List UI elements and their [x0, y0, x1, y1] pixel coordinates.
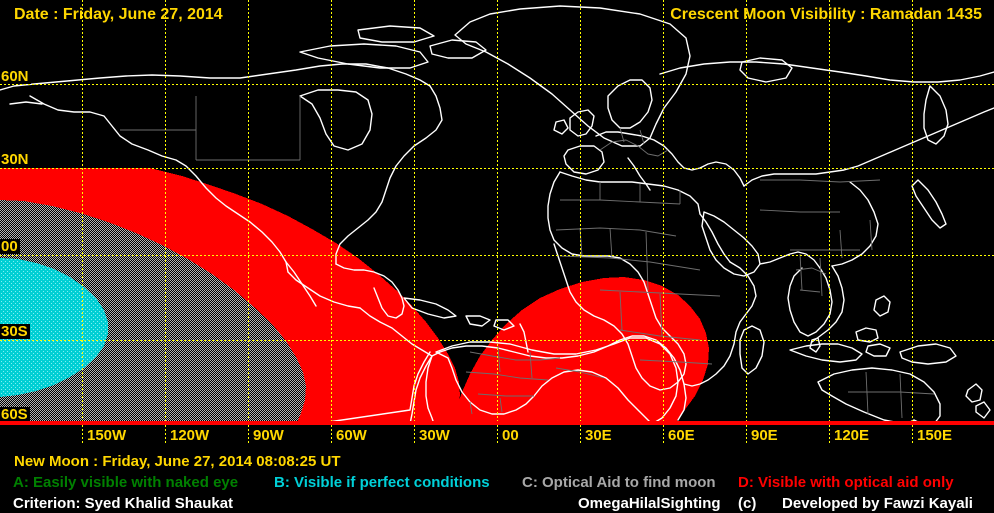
map-bottom-separator	[0, 421, 994, 425]
developer-text: Developed by Fawzi Kayali	[782, 494, 973, 513]
longitude-axis: 150W 120W 90W 60W 30W 00 30E 60E 90E 120…	[0, 425, 994, 450]
lon-label-150w: 150W	[87, 428, 126, 443]
crescent-moon-visibility-app: 60N 30N 00 30S 60S Date : Friday, June 2…	[0, 0, 994, 513]
gridline-lon-150w	[82, 0, 83, 425]
lon-label-90e: 90E	[751, 428, 778, 443]
lon-label-60e: 60E	[668, 428, 695, 443]
gridline-lon-150e	[912, 0, 913, 425]
lon-label-120e: 120E	[834, 428, 869, 443]
lon-tick-60w	[331, 425, 332, 443]
lat-label-30n: 30N	[0, 152, 31, 167]
lon-tick-150w	[82, 425, 83, 443]
lon-tick-120w	[165, 425, 166, 443]
gridline-lon-120e	[829, 0, 830, 425]
country-borders-group	[120, 96, 934, 418]
lon-tick-00	[497, 425, 498, 443]
lon-label-120w: 120W	[170, 428, 209, 443]
lon-tick-30e	[580, 425, 581, 443]
world-visibility-map[interactable]: 60N 30N 00 30S 60S Date : Friday, June 2…	[0, 0, 994, 425]
lon-tick-60e	[663, 425, 664, 443]
lon-tick-90w	[248, 425, 249, 443]
lat-label-60n: 60N	[0, 69, 31, 84]
footer: 150W 120W 90W 60W 30W 00 30E 60E 90E 120…	[0, 425, 994, 513]
product-name: OmegaHilalSighting	[578, 494, 721, 513]
new-moon-row: New Moon : Friday, June 27, 2014 08:08:2…	[0, 452, 994, 471]
date-label: Date : Friday, June 27, 2014	[14, 6, 223, 24]
lat-label-00: 00	[0, 239, 20, 254]
lon-tick-90e	[746, 425, 747, 443]
gridline-lon-60e	[663, 0, 664, 425]
legend-row: A: Easily visible with naked eye B: Visi…	[0, 473, 994, 492]
new-moon-text: New Moon : Friday, June 27, 2014 08:08:2…	[14, 452, 341, 471]
gridline-lon-90e	[746, 0, 747, 425]
lon-label-90w: 90W	[253, 428, 284, 443]
legend-item-a: A: Easily visible with naked eye	[13, 473, 238, 492]
legend-item-b: B: Visible if perfect conditions	[274, 473, 490, 492]
copyright-mark: (c)	[738, 494, 756, 513]
lon-label-30w: 30W	[419, 428, 450, 443]
page-title: Crescent Moon Visibility : Ramadan 1435	[670, 6, 982, 24]
lat-label-30s: 30S	[0, 324, 30, 339]
legend-item-c: C: Optical Aid to find moon	[522, 473, 716, 492]
gridline-lon-00	[497, 0, 498, 425]
lon-tick-120e	[829, 425, 830, 443]
lon-tick-150e	[912, 425, 913, 443]
gridline-lon-30e	[580, 0, 581, 425]
gridline-lon-30w	[414, 0, 415, 425]
lon-label-60w: 60W	[336, 428, 367, 443]
gridline-lon-120w	[165, 0, 166, 425]
criterion-text: Criterion: Syed Khalid Shaukat	[13, 494, 233, 513]
credits-row: Criterion: Syed Khalid Shaukat OmegaHila…	[0, 494, 994, 513]
gridline-lon-60w	[331, 0, 332, 425]
gridline-lon-90w	[248, 0, 249, 425]
lon-tick-30w	[414, 425, 415, 443]
lon-label-00: 00	[502, 428, 519, 443]
legend-item-d: D: Visible with optical aid only	[738, 473, 954, 492]
lon-label-150e: 150E	[917, 428, 952, 443]
lon-label-30e: 30E	[585, 428, 612, 443]
lat-label-60s: 60S	[0, 407, 30, 422]
